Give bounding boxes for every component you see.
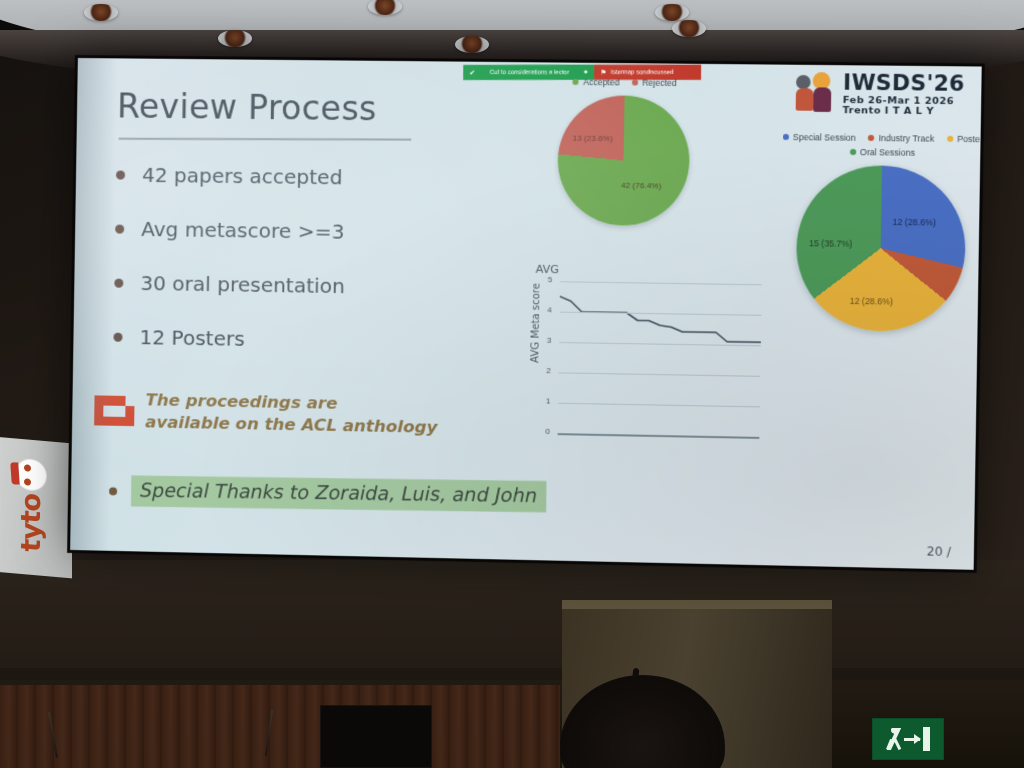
notification-error-text: Istennap sondiscussed	[611, 69, 674, 75]
thanks-highlight-text: Special Thanks to Zoraida, Luis, and Joh…	[131, 476, 547, 513]
list-item-label: 12 Posters	[139, 325, 245, 351]
legend-item-industry-track: Industry Track	[868, 133, 934, 144]
list-item-label: 30 oral presentation	[140, 271, 345, 298]
bullet-icon	[114, 278, 123, 287]
bullet-list: 42 papers accepted Avg metascore >=3 30 …	[113, 162, 501, 385]
projection-screen: ✔ Cut to considerations a lector ● ⚑ Ist…	[70, 58, 982, 570]
downlight-icon	[84, 4, 118, 21]
list-item: 12 Posters	[113, 325, 498, 355]
thanks-line: Special Thanks to Zoraida, Luis, and Joh…	[109, 475, 547, 512]
downlight-icon	[655, 4, 689, 21]
y-axis-tick: 1	[546, 396, 551, 405]
line-chart-series	[558, 281, 762, 437]
door-icon	[923, 727, 930, 751]
pie2-slice-label-special-session: 12 (28.6%)	[892, 217, 936, 228]
pie2-slice-label-oral-sessions: 15 (35.7%)	[809, 238, 852, 249]
y-axis-tick: 5	[548, 275, 553, 284]
owl-icon	[16, 459, 46, 492]
legend-label: Poster	[957, 134, 982, 145]
legend-swatch-icon	[632, 79, 638, 85]
callout-line-2: available on the ACL anthology	[145, 413, 438, 438]
graduation-cap-icon	[10, 462, 20, 484]
legend-item-rejected: Rejected	[632, 77, 677, 88]
arrow-right-icon	[904, 738, 920, 741]
proceedings-callout: The proceedings are available on the ACL…	[94, 388, 438, 439]
chevron-down-icon[interactable]: ●	[584, 69, 588, 76]
downlight-icon	[672, 20, 706, 37]
conference-title: IWSDS'26	[843, 71, 965, 96]
y-axis-tick: 0	[545, 427, 550, 436]
check-icon: ✔	[469, 68, 475, 76]
wall-trim	[0, 668, 1024, 680]
title-divider	[119, 138, 412, 140]
legend-item-accepted: Accepted	[573, 77, 620, 88]
list-item: 42 papers accepted	[116, 162, 501, 191]
line-chart-plot-area: 012345	[558, 281, 762, 437]
pie1-graphic: 42 (76.4%) 13 (23.6%)	[557, 95, 691, 226]
downlight-icon	[455, 36, 489, 53]
downlight-icon	[218, 30, 252, 47]
pie2-graphic: 12 (28.6%) 15 (35.7%) 12 (28.6%)	[795, 165, 966, 333]
accepted-rejected-pie-chart: Accepted Rejected 42 (76.4%) 13 (23.6%)	[530, 76, 717, 226]
tyto-logo-word: tyto	[16, 493, 47, 554]
legend-swatch-icon	[849, 149, 855, 155]
notification-success-text: Cut to considerations a lector	[490, 69, 570, 75]
session-type-pie-chart: Special Session Industry Track Poster Or…	[776, 132, 982, 333]
bullet-icon	[113, 332, 122, 341]
y-axis-tick: 2	[546, 366, 551, 375]
legend-swatch-icon	[782, 134, 788, 140]
iwsds-branding: IWSDS'26 Feb 26-Mar 1 2026 Trento I T A …	[796, 71, 965, 118]
emergency-exit-sign	[872, 718, 944, 760]
page-title: Review Process	[117, 86, 377, 128]
list-item: 30 oral presentation	[114, 271, 499, 301]
pie2-legend: Special Session Industry Track Poster Or…	[778, 132, 981, 159]
legend-label: Rejected	[642, 78, 677, 88]
pie1-legend: Accepted Rejected	[532, 76, 717, 88]
two-people-logo-icon	[796, 71, 836, 112]
pie2-slice-label-poster: 12 (28.6%)	[850, 296, 893, 307]
legend-swatch-icon	[947, 136, 953, 142]
bullet-icon	[116, 170, 125, 179]
conference-location: Trento I T A L Y	[843, 106, 965, 118]
screen-shading	[70, 58, 118, 551]
stage-monitor	[320, 705, 432, 768]
podium-edge	[562, 600, 832, 609]
list-item-label: 42 papers accepted	[142, 163, 343, 190]
legend-label: Oral Sessions	[860, 147, 915, 158]
wall-logo-panel: tyto software engineering	[0, 437, 72, 579]
alert-icon: ⚑	[600, 68, 606, 76]
legend-swatch-icon	[868, 135, 874, 141]
avg-meta-score-line-chart: AVG AVG Meta score 012345	[508, 262, 768, 455]
list-item-label: Avg metascore >=3	[141, 217, 345, 244]
photo-scene: tyto software engineering ✔ Cut to consi…	[0, 0, 1024, 768]
page-number: 20 /	[927, 544, 951, 559]
y-axis-tick: 3	[547, 336, 552, 345]
pie1-slice-label-rejected: 13 (23.6%)	[572, 134, 612, 144]
list-item: Avg metascore >=3	[115, 217, 500, 246]
legend-label: Industry Track	[878, 133, 934, 144]
legend-label: Accepted	[583, 77, 620, 87]
wood-paneling	[0, 685, 560, 768]
pie1-slice-label-accepted: 42 (76.4%)	[621, 181, 661, 191]
running-person-icon	[887, 728, 901, 750]
callout-text: The proceedings are available on the ACL…	[145, 389, 438, 439]
legend-item-oral-sessions: Oral Sessions	[849, 147, 915, 158]
legend-label: Special Session	[793, 132, 856, 143]
tyto-logo: tyto	[0, 437, 72, 557]
y-axis-tick: 4	[547, 305, 552, 314]
line-chart-y-axis-label: AVG Meta score	[529, 267, 542, 378]
callout-line-1: The proceedings are	[145, 390, 337, 413]
legend-item-poster: Poster	[947, 134, 982, 145]
legend-swatch-icon	[573, 79, 579, 85]
legend-item-special-session: Special Session	[782, 132, 855, 143]
bullet-icon	[115, 224, 124, 233]
